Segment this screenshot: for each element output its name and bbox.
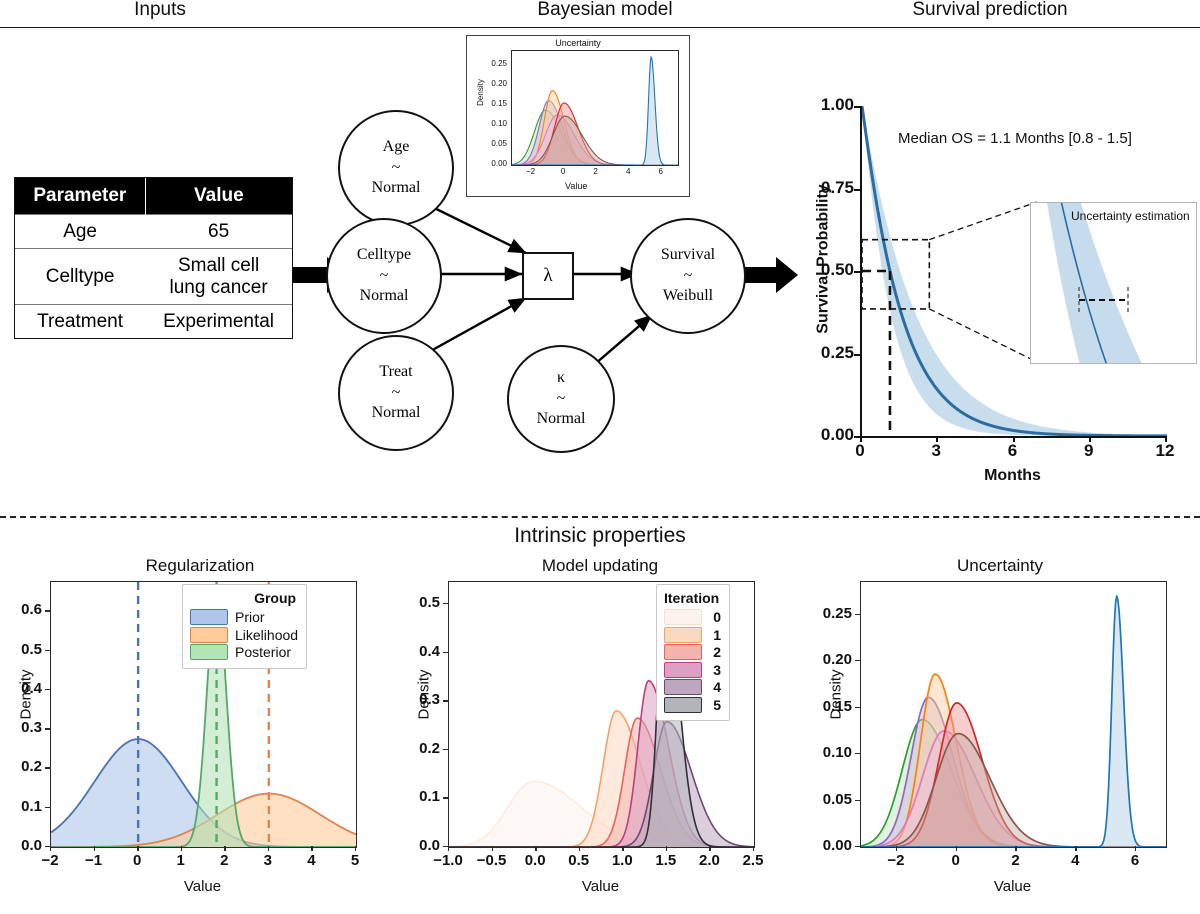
- y-tick-mark: [855, 707, 860, 708]
- table-header-row: Parameter Value: [15, 178, 292, 215]
- y-tick-mark: [443, 797, 448, 798]
- table-row: Celltype Small cell lung cancer: [15, 249, 292, 305]
- y-tick-mark: [443, 700, 448, 701]
- x-tick-mark: [137, 846, 138, 851]
- survival-y-tick-mark: [854, 106, 860, 108]
- dag-node-lambda-label: λ: [543, 265, 552, 287]
- survival-y-tick-label: 1.00: [798, 95, 854, 115]
- x-tick-label: 2.5: [727, 852, 779, 869]
- dag-node-kappa-line2: Normal: [537, 409, 586, 429]
- inset-uncertainty-axes: [511, 50, 679, 166]
- y-tick-mark: [855, 614, 860, 615]
- cell-value-age: 65: [145, 215, 292, 249]
- y-tick-mark: [45, 846, 50, 847]
- dag-node-kappa: κ ~ Normal: [507, 345, 615, 453]
- table-col-parameter: Parameter: [15, 178, 145, 215]
- uncertainty-title: Uncertainty: [800, 556, 1200, 576]
- header-divider: [0, 27, 1200, 28]
- x-tick-mark: [224, 846, 225, 851]
- section-title-intrinsic-properties: Intrinsic properties: [0, 524, 1200, 548]
- inset-y-tick-label: 0.00: [475, 159, 507, 168]
- uncertainty-axes: [860, 581, 1167, 848]
- legend-swatch-iter-1: [664, 627, 702, 643]
- table-row: Age 65: [15, 215, 292, 249]
- inset-y-tick-label: 0.10: [475, 119, 507, 128]
- uncertainty-xlabel: Value: [860, 878, 1165, 895]
- header-bayesian-model: Bayesian model: [505, 0, 705, 21]
- x-tick-label: 4: [1049, 852, 1101, 869]
- y-tick-mark: [45, 728, 50, 729]
- survival-x-tick-mark: [860, 436, 862, 442]
- regularization-legend[interactable]: Group Prior Likelihood Posterior: [182, 584, 307, 669]
- section-divider: [0, 516, 1200, 518]
- y-tick-mark: [855, 753, 860, 754]
- x-tick-mark: [1015, 846, 1016, 851]
- x-tick-mark: [579, 846, 580, 851]
- x-tick-label: 5: [329, 852, 381, 869]
- dag-node-age-line0: Age: [383, 137, 410, 157]
- survival-y-tick-mark: [854, 189, 860, 191]
- regularization-xlabel: Value: [50, 878, 355, 895]
- y-tick-label: 0.5: [390, 594, 440, 611]
- dag-node-celltype-line2: Normal: [360, 286, 409, 306]
- dag-node-celltype: Celltype ~ Normal: [326, 218, 442, 334]
- y-tick-label: 0.0: [0, 837, 42, 854]
- x-tick-label: 2: [989, 852, 1041, 869]
- dag-node-survival-line1: ~: [684, 266, 693, 286]
- x-tick-label: −2: [870, 852, 922, 869]
- dag-node-age: Age ~ Normal: [338, 110, 454, 226]
- legend-swatch-likelihood: [190, 627, 228, 643]
- legend-label-iter-3: 3: [709, 663, 721, 677]
- table-row: Treatment Experimental: [15, 304, 292, 338]
- inset-uncertainty-ylabel: Density: [467, 88, 494, 97]
- y-tick-label: 0.10: [802, 744, 852, 761]
- dag-node-survival-line2: Weibull: [663, 286, 713, 306]
- median-os-annotation: Median OS = 1.1 Months [0.8 - 1.5]: [898, 130, 1132, 147]
- regularization-plot: Regularization Density Value −2−10123450…: [0, 556, 400, 914]
- cell-parameter-age: Age: [15, 215, 145, 249]
- legend-item-prior[interactable]: Prior: [190, 609, 298, 625]
- dag-node-kappa-line0: κ: [557, 368, 565, 388]
- x-tick-mark: [956, 846, 957, 851]
- regularization-legend-title: Group: [190, 590, 298, 606]
- y-tick-label: 0.4: [0, 680, 42, 697]
- y-tick-label: 0.0: [390, 837, 440, 854]
- x-tick-mark: [448, 846, 449, 851]
- cell-parameter-treatment: Treatment: [15, 304, 145, 338]
- y-tick-label: 0.20: [802, 651, 852, 668]
- survival-x-tick-label: 12: [1139, 441, 1191, 461]
- legend-swatch-prior: [190, 609, 228, 625]
- figure-root: Inputs Bayesian model Survival predictio…: [0, 0, 1200, 914]
- inset-y-tick-label: 0.05: [475, 139, 507, 148]
- dag-node-treat-line1: ~: [392, 383, 401, 403]
- header-survival-prediction: Survival prediction: [880, 0, 1100, 21]
- survival-x-tick-mark: [1089, 436, 1091, 442]
- x-tick-mark: [709, 846, 710, 851]
- x-tick-mark: [666, 846, 667, 851]
- legend-item-iter-2[interactable]: 2: [664, 644, 721, 660]
- inset-uncertainty-xlabel: Value: [565, 181, 587, 191]
- y-tick-label: 0.00: [802, 837, 852, 854]
- y-tick-label: 0.2: [390, 740, 440, 757]
- x-tick-mark: [492, 846, 493, 851]
- cell-parameter-celltype: Celltype: [15, 249, 145, 305]
- y-tick-mark: [855, 660, 860, 661]
- x-tick-mark: [311, 846, 312, 851]
- regularization-title: Regularization: [0, 556, 400, 576]
- survival-y-tick-label: 0.75: [798, 178, 854, 198]
- y-tick-mark: [45, 689, 50, 690]
- model-updating-xlabel: Value: [448, 878, 753, 895]
- survival-y-tick-mark: [854, 354, 860, 356]
- survival-x-tick-mark: [1165, 436, 1167, 442]
- legend-item-iter-3[interactable]: 3: [664, 662, 721, 678]
- x-tick-mark: [535, 846, 536, 851]
- x-tick-mark: [268, 846, 269, 851]
- inset-x-tick-label: −2: [517, 167, 545, 176]
- legend-item-iter-0[interactable]: 0: [664, 609, 721, 625]
- y-tick-label: 0.2: [0, 758, 42, 775]
- survival-y-tick-mark: [854, 436, 860, 438]
- y-tick-label: 0.25: [802, 605, 852, 622]
- y-tick-mark: [45, 650, 50, 651]
- uncertainty-plot: Uncertainty Density Value −202460.000.05…: [800, 556, 1200, 914]
- dag-node-survival-line0: Survival: [661, 245, 715, 265]
- y-tick-mark: [45, 610, 50, 611]
- survival-x-tick-label: 6: [987, 441, 1039, 461]
- legend-item-iter-4[interactable]: 4: [664, 679, 721, 695]
- inset-uncertainty-svg: [512, 51, 678, 165]
- legend-label-iter-4: 4: [709, 680, 721, 694]
- x-tick-mark: [94, 846, 95, 851]
- y-tick-label: 0.3: [0, 719, 42, 736]
- legend-swatch-iter-4: [664, 679, 702, 695]
- y-tick-label: 0.4: [390, 643, 440, 660]
- y-tick-label: 0.15: [802, 698, 852, 715]
- inset-y-tick-label: 0.25: [475, 59, 507, 68]
- inset-uncertainty-title: Uncertainty: [467, 38, 689, 48]
- inset-x-tick-label: 4: [614, 167, 642, 176]
- dag-node-kappa-line1: ~: [557, 389, 566, 409]
- dag-node-treat: Treat ~ Normal: [338, 335, 454, 451]
- y-tick-mark: [45, 807, 50, 808]
- legend-label-likelihood: Likelihood: [235, 628, 298, 642]
- x-tick-mark: [355, 846, 356, 851]
- y-tick-mark: [855, 846, 860, 847]
- y-tick-mark: [443, 603, 448, 604]
- dag-node-lambda: λ: [522, 252, 574, 300]
- y-tick-mark: [45, 767, 50, 768]
- dag-node-age-line1: ~: [392, 158, 401, 178]
- legend-label-iter-5: 5: [709, 698, 721, 712]
- inset-uncertainty-plot: Uncertainty Density Value −202460.000.05…: [466, 35, 690, 197]
- dag-node-survival: Survival ~ Weibull: [630, 218, 746, 334]
- x-tick-mark: [181, 846, 182, 851]
- uncertainty-estimation-inset: Uncertainty estimation: [1030, 202, 1197, 364]
- model-updating-legend-title: Iteration: [664, 590, 721, 606]
- model-updating-legend[interactable]: Iteration 0 1 2 3 4 5: [656, 584, 730, 721]
- dag-node-celltype-line0: Celltype: [357, 245, 411, 265]
- y-tick-label: 0.1: [0, 798, 42, 815]
- legend-item-iter-1[interactable]: 1: [664, 627, 721, 643]
- dag-node-celltype-line1: ~: [380, 266, 389, 286]
- y-tick-mark: [443, 652, 448, 653]
- legend-label-iter-0: 0: [709, 610, 721, 624]
- inset-x-tick-label: 2: [582, 167, 610, 176]
- survival-xlabel: Months: [860, 467, 1165, 485]
- inset-y-tick-label: 0.15: [475, 99, 507, 108]
- legend-swatch-iter-5: [664, 697, 702, 713]
- inset-uncertainty-estimation-title: Uncertainty estimation: [1071, 209, 1190, 223]
- x-tick-label: 6: [1109, 852, 1161, 869]
- survival-x-tick-label: 9: [1063, 441, 1115, 461]
- header-inputs: Inputs: [60, 0, 260, 21]
- model-updating-title: Model updating: [400, 556, 800, 576]
- legend-item-posterior[interactable]: Posterior: [190, 644, 298, 660]
- y-tick-mark: [443, 846, 448, 847]
- y-tick-label: 0.05: [802, 791, 852, 808]
- panel-headers: Inputs Bayesian model Survival predictio…: [0, 0, 1200, 22]
- legend-swatch-iter-2: [664, 644, 702, 660]
- cell-value-treatment: Experimental: [145, 304, 292, 338]
- survival-prediction-plot: Median OS = 1.1 Months [0.8 - 1.5] Survi…: [800, 90, 1195, 485]
- survival-x-tick-label: 3: [910, 441, 962, 461]
- legend-swatch-iter-3: [664, 662, 702, 678]
- survival-y-tick-label: 0.25: [798, 343, 854, 363]
- inputs-table: Parameter Value Age 65 Celltype Small ce…: [14, 177, 293, 339]
- survival-y-tick-mark: [854, 271, 860, 273]
- x-tick-mark: [622, 846, 623, 851]
- y-tick-label: 0.5: [0, 641, 42, 658]
- inset-x-tick-label: 6: [647, 167, 675, 176]
- legend-label-prior: Prior: [235, 610, 265, 624]
- legend-swatch-posterior: [190, 644, 228, 660]
- x-tick-mark: [753, 846, 754, 851]
- x-tick-mark: [896, 846, 897, 851]
- survival-x-tick-mark: [1013, 436, 1015, 442]
- inset-x-tick-label: 0: [549, 167, 577, 176]
- x-tick-mark: [1075, 846, 1076, 851]
- y-tick-label: 0.6: [0, 601, 42, 618]
- model-updating-plot: Model updating Density Value −1.0−0.50.0…: [400, 556, 800, 914]
- x-tick-mark: [50, 846, 51, 851]
- cell-value-celltype: Small cell lung cancer: [145, 249, 292, 305]
- survival-y-tick-label: 0.00: [798, 425, 854, 445]
- legend-label-iter-2: 2: [709, 645, 721, 659]
- y-tick-label: 0.3: [390, 691, 440, 708]
- y-tick-mark: [855, 800, 860, 801]
- legend-label-posterior: Posterior: [235, 645, 291, 659]
- dag-node-age-line2: Normal: [372, 178, 421, 198]
- dag-node-treat-line0: Treat: [379, 362, 412, 382]
- y-tick-label: 0.1: [390, 788, 440, 805]
- legend-label-iter-1: 1: [709, 628, 721, 642]
- survival-y-tick-label: 0.50: [798, 260, 854, 280]
- y-tick-mark: [443, 749, 448, 750]
- legend-item-likelihood[interactable]: Likelihood: [190, 627, 298, 643]
- dag-node-treat-line2: Normal: [372, 403, 421, 423]
- legend-swatch-iter-0: [664, 609, 702, 625]
- x-tick-label: 0: [930, 852, 982, 869]
- legend-item-iter-5[interactable]: 5: [664, 697, 721, 713]
- survival-x-tick-mark: [936, 436, 938, 442]
- inset-y-tick-label: 0.20: [475, 79, 507, 88]
- x-tick-mark: [1135, 846, 1136, 851]
- table-col-value: Value: [145, 178, 292, 215]
